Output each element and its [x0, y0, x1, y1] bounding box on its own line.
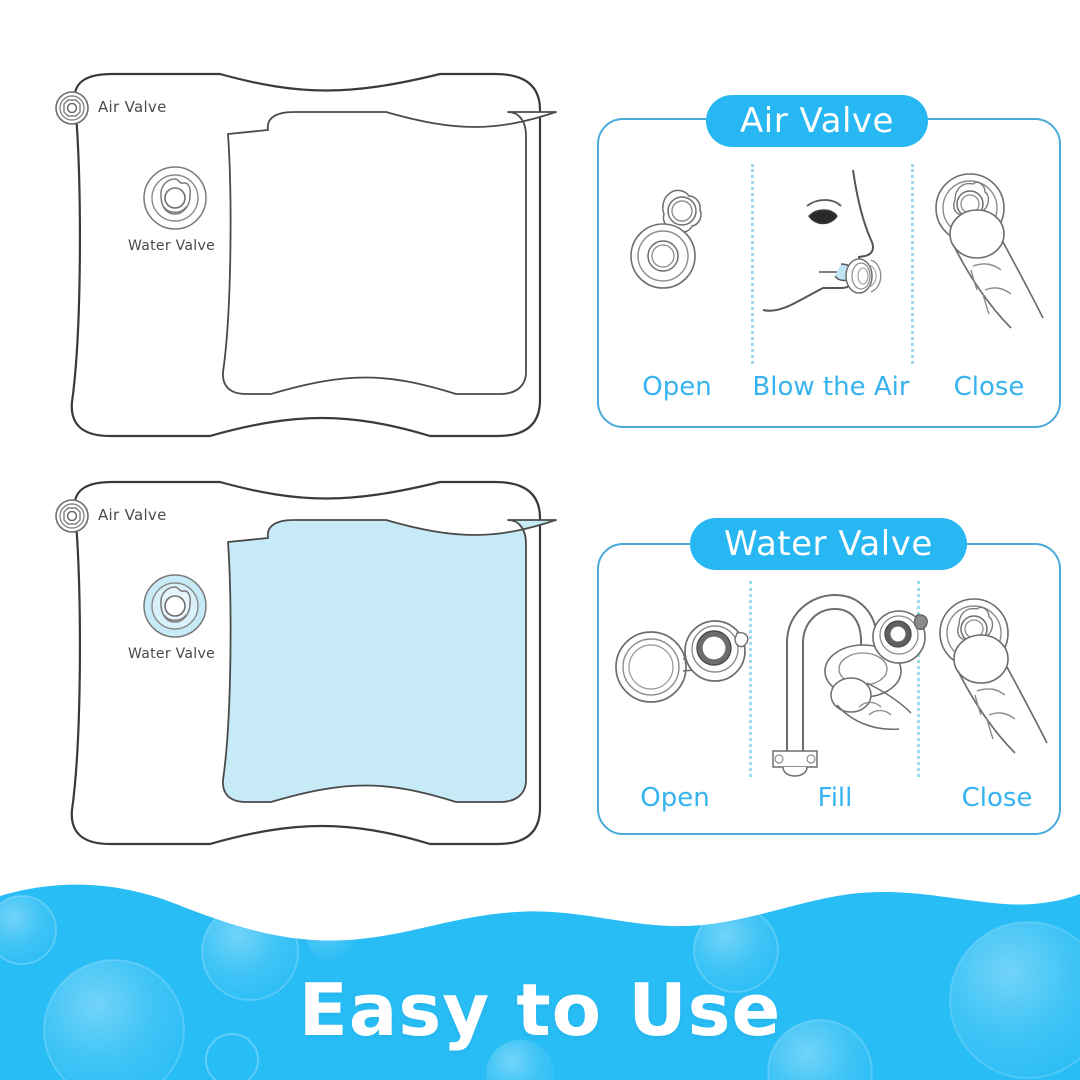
step-caption-fill: Fill — [818, 783, 853, 813]
face-blowing-icon — [761, 164, 911, 344]
water-valve-glyph — [144, 575, 206, 637]
infographic-stage: Air Valve Water Valve Air Valve Water Va… — [0, 0, 1080, 1080]
air-valve-label: Air Valve — [98, 506, 167, 524]
water-valve-label: Water Valve — [128, 646, 215, 662]
finger-press-icon — [925, 168, 1055, 338]
step-caption-blow: Blow the Air — [752, 372, 909, 402]
mat-deflated-diagram: Air Valve Water Valve — [20, 60, 560, 450]
banner-title: Easy to Use — [0, 968, 1080, 1052]
step-caption-open: Open — [640, 783, 709, 813]
mat-filled-diagram: Air Valve Water Valve — [20, 468, 560, 858]
water-valve-panel: Open Fill Close — [597, 543, 1061, 835]
panel-divider — [911, 164, 914, 364]
step-caption-close: Close — [962, 783, 1033, 813]
air-valve-glyph — [56, 92, 88, 124]
faucet-fill-icon — [759, 579, 929, 779]
water-valve-label: Water Valve — [128, 238, 215, 254]
water-valve-glyph — [144, 167, 206, 229]
finger-press-icon — [929, 593, 1059, 763]
water-valve-open-icon — [611, 607, 751, 727]
easy-to-use-banner: Easy to Use — [0, 860, 1080, 1080]
air-valve-label: Air Valve — [98, 98, 167, 116]
water-valve-badge: Water Valve — [690, 518, 967, 570]
air-valve-badge: Air Valve — [706, 95, 928, 147]
valve-open-icon — [617, 178, 737, 318]
panel-divider — [751, 164, 754, 364]
air-valve-panel: Open Blow the Air Close — [597, 118, 1061, 428]
step-caption-close: Close — [954, 372, 1025, 402]
step-caption-open: Open — [642, 372, 711, 402]
air-valve-glyph — [56, 500, 88, 532]
